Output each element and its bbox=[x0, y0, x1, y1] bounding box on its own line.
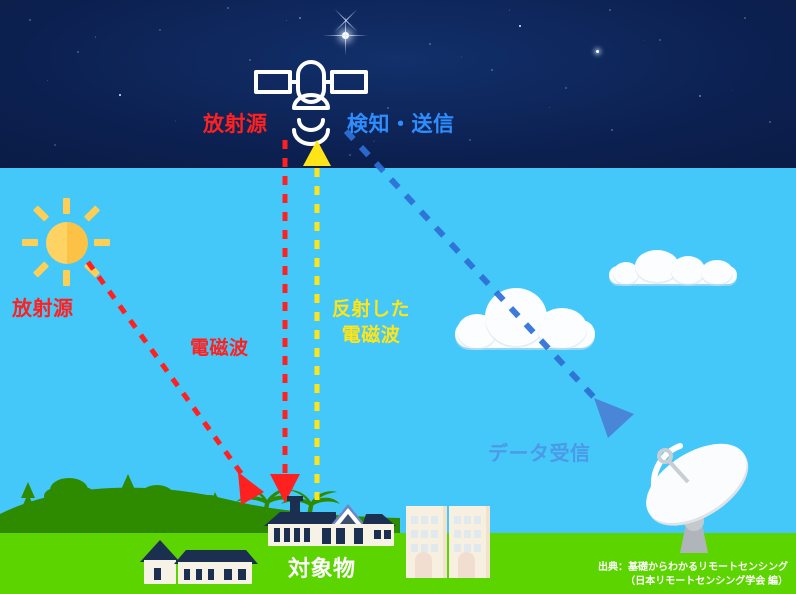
label-data-reception: データ受信 bbox=[488, 437, 591, 466]
label-detect-transmit: 検知・送信 bbox=[347, 108, 455, 138]
label-emission-source: 放射源 bbox=[12, 292, 74, 321]
label-target-object: 対象物 bbox=[288, 551, 356, 583]
star-icon bbox=[345, 35, 347, 37]
parabolic-antenna-icon bbox=[628, 428, 768, 556]
apartment-buildings-icon bbox=[406, 506, 486, 578]
sun-icon bbox=[20, 196, 112, 288]
citation: 出典：基礎からわかるリモートセンシング （日本リモートセンシング学会 編） bbox=[598, 561, 788, 588]
label-emission-source-top: 放射源 bbox=[203, 108, 268, 138]
house-icon-target bbox=[262, 494, 400, 546]
citation-line2: （日本リモートセンシング学会 編） bbox=[598, 575, 788, 589]
label-reflected-wave-line1: 反射した bbox=[332, 297, 410, 323]
cloud-icon bbox=[455, 286, 595, 348]
label-reflected-wave: 反射した 電磁波 bbox=[332, 297, 410, 348]
night-sky-background bbox=[0, 0, 796, 168]
star-icon-secondary bbox=[596, 50, 599, 53]
cloud-icon-2 bbox=[609, 248, 737, 284]
house-icon-small bbox=[138, 538, 260, 584]
label-reflected-wave-line2: 電磁波 bbox=[332, 323, 410, 349]
diagram-canvas: 放射源 検知・送信 放射源 電磁波 反射した 電磁波 データ受信 対象物 bbox=[0, 0, 796, 594]
citation-line1: 出典：基礎からわかるリモートセンシング bbox=[598, 561, 788, 575]
label-electromagnetic-wave: 電磁波 bbox=[190, 333, 249, 360]
